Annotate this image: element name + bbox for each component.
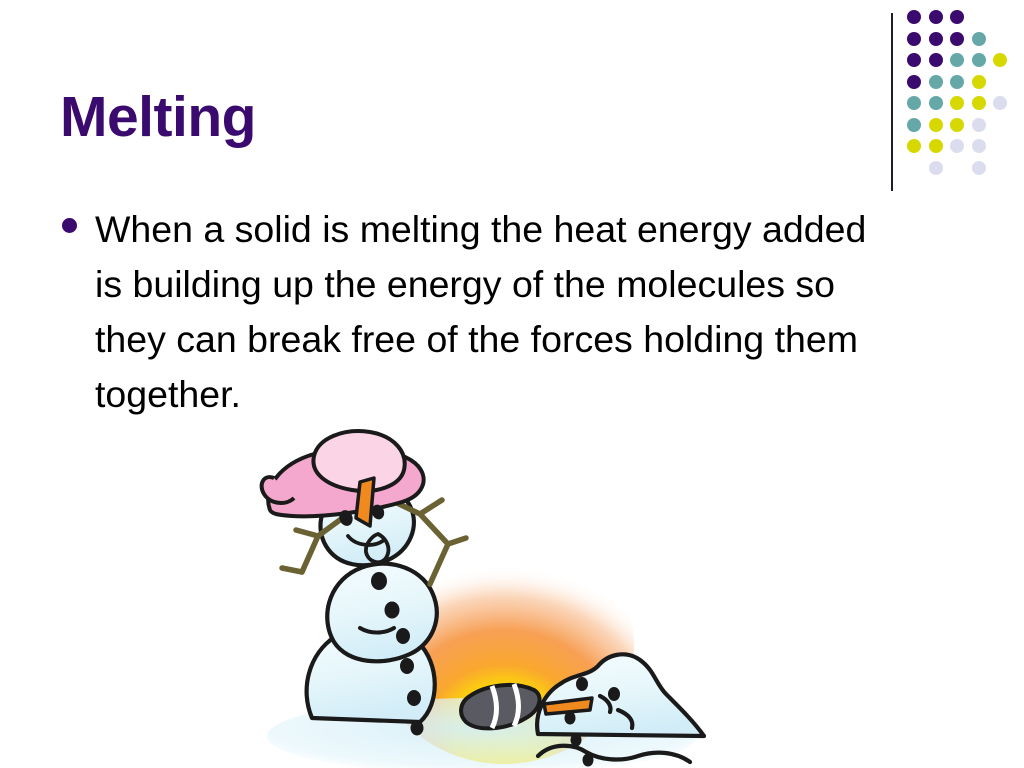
bullet-marker-icon [62,218,77,233]
snowman-carrot-nose [356,478,374,526]
dot-purple [907,10,921,24]
dot-purple [907,53,921,67]
dot-purple [950,10,964,24]
dot-teal [907,96,921,110]
dot-purple [929,53,943,67]
dot-teal [950,53,964,67]
melted-button-2 [571,734,582,747]
button-4 [400,658,414,674]
slide-canvas: Melting When a solid is melting the heat… [0,0,1024,768]
button-5 [407,690,421,706]
dot-grid [907,10,1023,185]
button-1 [371,572,387,590]
dot-teal [929,75,943,89]
melted-eye-left [576,677,588,691]
dot-yellow [929,118,943,132]
dot-teal [972,32,986,46]
button-3 [396,628,410,644]
melting-snowmen-illustration [252,418,752,768]
dot-lavender [972,139,986,153]
dot-yellow [950,96,964,110]
dot-yellow [929,139,943,153]
dot-yellow [950,118,964,132]
page-title: Melting [60,88,256,148]
dot-purple [929,32,943,46]
dot-lavender [950,139,964,153]
dot-purple [907,75,921,89]
dot-grid-decoration [885,0,1024,195]
dot-yellow [972,96,986,110]
dot-teal [907,118,921,132]
pink-floppy-hat [262,431,424,516]
button-6 [411,721,424,736]
bullet-item-text: When a solid is melting the heat energy … [95,202,900,422]
melted-button-3 [583,754,594,767]
dot-yellow [907,139,921,153]
bullet-list: When a solid is melting the heat energy … [62,202,942,422]
dot-yellow [972,75,986,89]
dot-lavender [929,161,943,175]
dot-purple [950,32,964,46]
dot-teal [929,96,943,110]
snowmen-svg [252,418,752,768]
dot-lavender [972,118,986,132]
dot-lavender [993,96,1007,110]
vertical-divider-line [891,13,893,191]
dot-purple [929,10,943,24]
dot-yellow [993,53,1007,67]
dot-teal [972,53,986,67]
button-2 [385,602,400,619]
dot-teal [950,75,964,89]
dot-purple [907,32,921,46]
melted-eye-right [608,687,620,701]
dot-lavender [972,161,986,175]
